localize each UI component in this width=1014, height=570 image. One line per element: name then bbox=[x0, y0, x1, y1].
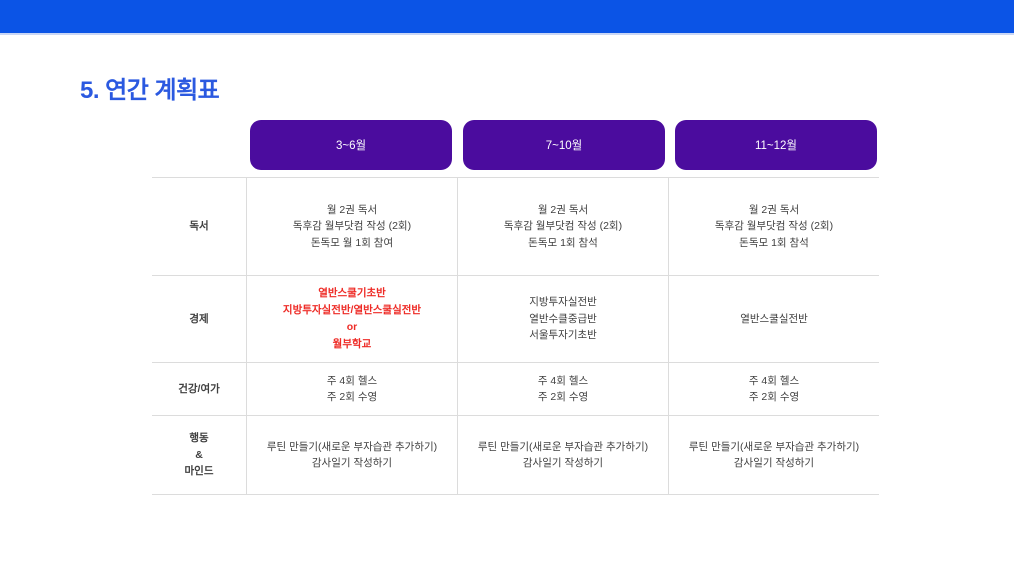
cell-economy-p1-line-1: 지방투자실전반/열반스쿨실전반 bbox=[247, 302, 457, 319]
row-label-reading-lines: 독서 bbox=[152, 218, 246, 235]
row-label-economy-lines: 경제 bbox=[152, 311, 246, 328]
cell-health-p2-line-0: 주 4회 헬스 bbox=[458, 373, 668, 390]
table-row: 건강/여가 주 4회 헬스주 2회 수영 주 4회 헬스주 2회 수영 주 4회… bbox=[152, 363, 879, 416]
cell-reading-p2-line-0: 월 2권 독서 bbox=[458, 202, 668, 219]
period-header-1-label: 3~6월 bbox=[336, 137, 366, 153]
cell-mind-p1-lines: 루틴 만들기(새로운 부자습관 추가하기)감사일기 작성하기 bbox=[247, 439, 457, 472]
cell-reading-p1-lines: 월 2권 독서독후감 월부닷컴 작성 (2회)돈독모 월 1회 참여 bbox=[247, 202, 457, 252]
period-header-2-label: 7~10월 bbox=[546, 137, 582, 153]
row-label-health-lines: 건강/여가 bbox=[152, 381, 246, 398]
cell-reading-p3-lines: 월 2권 독서독후감 월부닷컴 작성 (2회)돈독모 1회 참석 bbox=[669, 202, 879, 252]
cell-economy-p1-line-0: 열반스쿨기초반 bbox=[247, 285, 457, 302]
cell-health-p3-lines: 주 4회 헬스주 2회 수영 bbox=[669, 373, 879, 406]
row-label-mind-line-0: 행동 bbox=[152, 430, 246, 447]
cell-economy-p3-line-0: 열반스쿨실전반 bbox=[669, 311, 879, 328]
cell-reading-p1-line-0: 월 2권 독서 bbox=[247, 202, 457, 219]
period-header-3-label: 11~12월 bbox=[755, 137, 797, 153]
plan-table-body: 독서 월 2권 독서독후감 월부닷컴 작성 (2회)돈독모 월 1회 참여 월 … bbox=[152, 178, 879, 495]
cell-reading-p1-line-1: 독후감 월부닷컴 작성 (2회) bbox=[247, 218, 457, 235]
cell-reading-p1: 월 2권 독서독후감 월부닷컴 작성 (2회)돈독모 월 1회 참여 bbox=[247, 178, 458, 276]
cell-mind-p2: 루틴 만들기(새로운 부자습관 추가하기)감사일기 작성하기 bbox=[458, 416, 669, 495]
cell-health-p2-line-1: 주 2회 수영 bbox=[458, 389, 668, 406]
row-label-mind-line-1: & bbox=[152, 447, 246, 464]
row-label-mind: 행동&마인드 bbox=[152, 416, 247, 495]
cell-health-p2: 주 4회 헬스주 2회 수영 bbox=[458, 363, 669, 416]
cell-economy-p2-line-0: 지방투자실전반 bbox=[458, 294, 668, 311]
cell-mind-p3: 루틴 만들기(새로운 부자습관 추가하기)감사일기 작성하기 bbox=[669, 416, 880, 495]
cell-reading-p3-line-2: 돈독모 1회 참석 bbox=[669, 235, 879, 252]
row-label-health-line-0: 건강/여가 bbox=[152, 381, 246, 398]
row-label-economy: 경제 bbox=[152, 276, 247, 363]
cell-reading-p2: 월 2권 독서독후감 월부닷컴 작성 (2회)돈독모 1회 참석 bbox=[458, 178, 669, 276]
cell-health-p2-lines: 주 4회 헬스주 2회 수영 bbox=[458, 373, 668, 406]
cell-economy-p2: 지방투자실전반열반수클중급반서울투자기초반 bbox=[458, 276, 669, 363]
table-row: 독서 월 2권 독서독후감 월부닷컴 작성 (2회)돈독모 월 1회 참여 월 … bbox=[152, 178, 879, 276]
cell-economy-p1-line-3: 월부학교 bbox=[247, 336, 457, 353]
cell-mind-p2-line-0: 루틴 만들기(새로운 부자습관 추가하기) bbox=[458, 439, 668, 456]
cell-health-p3-line-0: 주 4회 헬스 bbox=[669, 373, 879, 390]
top-banner bbox=[0, 0, 1014, 33]
cell-reading-p3: 월 2권 독서독후감 월부닷컴 작성 (2회)돈독모 1회 참석 bbox=[669, 178, 880, 276]
cell-reading-p2-line-2: 돈독모 1회 참석 bbox=[458, 235, 668, 252]
cell-mind-p2-line-1: 감사일기 작성하기 bbox=[458, 455, 668, 472]
cell-health-p1: 주 4회 헬스주 2회 수영 bbox=[247, 363, 458, 416]
cell-economy-p3: 열반스쿨실전반 bbox=[669, 276, 880, 363]
row-label-economy-line-0: 경제 bbox=[152, 311, 246, 328]
table-row: 경제 열반스쿨기초반지방투자실전반/열반스쿨실전반or월부학교 지방투자실전반열… bbox=[152, 276, 879, 363]
period-header-1: 3~6월 bbox=[250, 120, 452, 170]
cell-mind-p2-lines: 루틴 만들기(새로운 부자습관 추가하기)감사일기 작성하기 bbox=[458, 439, 668, 472]
cell-economy-p1: 열반스쿨기초반지방투자실전반/열반스쿨실전반or월부학교 bbox=[247, 276, 458, 363]
table-row: 행동&마인드 루틴 만들기(새로운 부자습관 추가하기)감사일기 작성하기 루틴… bbox=[152, 416, 879, 495]
cell-economy-p1-lines: 열반스쿨기초반지방투자실전반/열반스쿨실전반or월부학교 bbox=[247, 285, 457, 353]
cell-mind-p1-line-0: 루틴 만들기(새로운 부자습관 추가하기) bbox=[247, 439, 457, 456]
cell-reading-p3-line-1: 독후감 월부닷컴 작성 (2회) bbox=[669, 218, 879, 235]
page-title: 5. 연간 계획표 bbox=[80, 76, 219, 106]
row-label-reading-line-0: 독서 bbox=[152, 218, 246, 235]
cell-mind-p3-line-1: 감사일기 작성하기 bbox=[669, 455, 879, 472]
row-label-health: 건강/여가 bbox=[152, 363, 247, 416]
cell-reading-p2-lines: 월 2권 독서독후감 월부닷컴 작성 (2회)돈독모 1회 참석 bbox=[458, 202, 668, 252]
cell-reading-p3-line-0: 월 2권 독서 bbox=[669, 202, 879, 219]
cell-health-p3: 주 4회 헬스주 2회 수영 bbox=[669, 363, 880, 416]
cell-health-p1-line-1: 주 2회 수영 bbox=[247, 389, 457, 406]
top-banner-underline bbox=[0, 33, 1014, 35]
period-header-3: 11~12월 bbox=[675, 120, 877, 170]
cell-reading-p2-line-1: 독후감 월부닷컴 작성 (2회) bbox=[458, 218, 668, 235]
cell-mind-p3-line-0: 루틴 만들기(새로운 부자습관 추가하기) bbox=[669, 439, 879, 456]
cell-economy-p2-lines: 지방투자실전반열반수클중급반서울투자기초반 bbox=[458, 294, 668, 344]
row-label-reading: 독서 bbox=[152, 178, 247, 276]
cell-health-p3-line-1: 주 2회 수영 bbox=[669, 389, 879, 406]
annual-plan-table: 독서 월 2권 독서독후감 월부닷컴 작성 (2회)돈독모 월 1회 참여 월 … bbox=[152, 177, 879, 495]
cell-mind-p3-lines: 루틴 만들기(새로운 부자습관 추가하기)감사일기 작성하기 bbox=[669, 439, 879, 472]
cell-economy-p2-line-1: 열반수클중급반 bbox=[458, 311, 668, 328]
cell-mind-p1-line-1: 감사일기 작성하기 bbox=[247, 455, 457, 472]
cell-reading-p1-line-2: 돈독모 월 1회 참여 bbox=[247, 235, 457, 252]
row-label-mind-lines: 행동&마인드 bbox=[152, 430, 246, 480]
period-header-2: 7~10월 bbox=[463, 120, 665, 170]
cell-health-p1-lines: 주 4회 헬스주 2회 수영 bbox=[247, 373, 457, 406]
cell-economy-p1-line-2: or bbox=[247, 319, 457, 336]
cell-mind-p1: 루틴 만들기(새로운 부자습관 추가하기)감사일기 작성하기 bbox=[247, 416, 458, 495]
cell-economy-p2-line-2: 서울투자기초반 bbox=[458, 327, 668, 344]
row-label-mind-line-2: 마인드 bbox=[152, 463, 246, 480]
cell-economy-p3-lines: 열반스쿨실전반 bbox=[669, 311, 879, 328]
cell-health-p1-line-0: 주 4회 헬스 bbox=[247, 373, 457, 390]
